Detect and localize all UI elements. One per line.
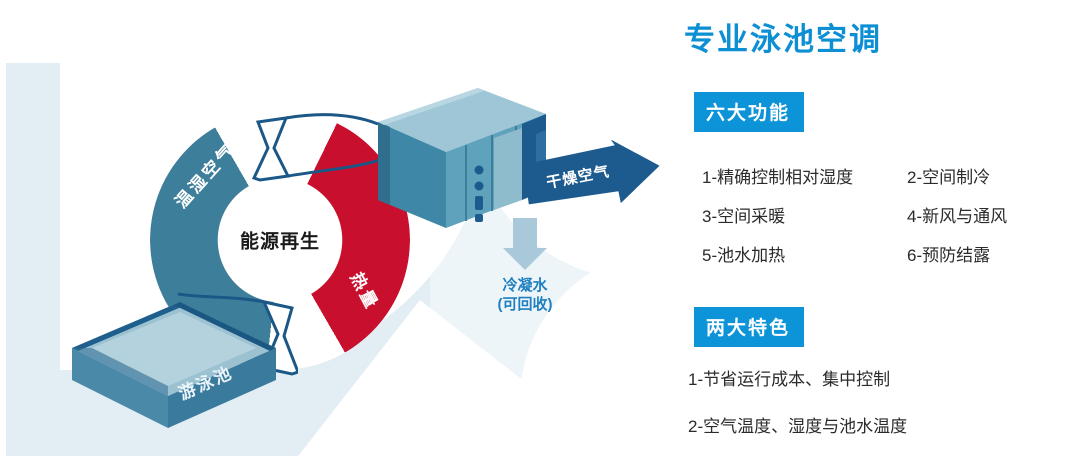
features-list: 1-节省运行成本、集中控制 2-空气温度、湿度与池水温度 (688, 365, 1078, 459)
page-title: 专业泳池空调 (684, 14, 882, 59)
feature-item: 2-空气温度、湿度与池水温度 (688, 412, 1078, 437)
illustration-panel: 能源再生 温湿空气 热量 (0, 0, 672, 456)
function-item: 3-空间采暖 (702, 202, 907, 227)
poster-canvas: 能源再生 温湿空气 热量 (0, 0, 1080, 456)
content-panel: 专业泳池空调 六大功能 1-精确控制相对湿度 2-空间制冷 3-空间采暖 4-新… (672, 0, 1080, 456)
functions-list: 1-精确控制相对湿度 2-空间制冷 3-空间采暖 4-新风与通风 5-池水加热 … (702, 163, 1074, 280)
cycle-center-label: 能源再生 (240, 227, 320, 254)
function-item: 6-预防结露 (907, 241, 990, 266)
condensate-label-line2: (可回收) (455, 296, 595, 315)
condensate-label-line1: 冷凝水 (455, 277, 595, 296)
features-badge: 两大特色 (694, 307, 804, 347)
function-item: 5-池水加热 (702, 241, 907, 266)
feature-item: 1-节省运行成本、集中控制 (688, 365, 1078, 390)
function-item: 1-精确控制相对湿度 (702, 163, 907, 188)
function-item: 2-空间制冷 (907, 163, 990, 188)
swimming-pool: 游泳池 (62, 288, 292, 448)
condensate-group: 冷凝水 (可回收) (455, 218, 595, 328)
function-row: 3-空间采暖 4-新风与通风 (702, 202, 1074, 227)
function-row: 1-精确控制相对湿度 2-空间制冷 (702, 163, 1074, 188)
dry-air-arrow: 干燥空气 (520, 140, 670, 230)
functions-badge: 六大功能 (694, 92, 804, 132)
function-row: 5-池水加热 6-预防结露 (702, 241, 1074, 266)
function-item: 4-新风与通风 (907, 202, 1007, 227)
down-arrow-icon (455, 218, 595, 272)
